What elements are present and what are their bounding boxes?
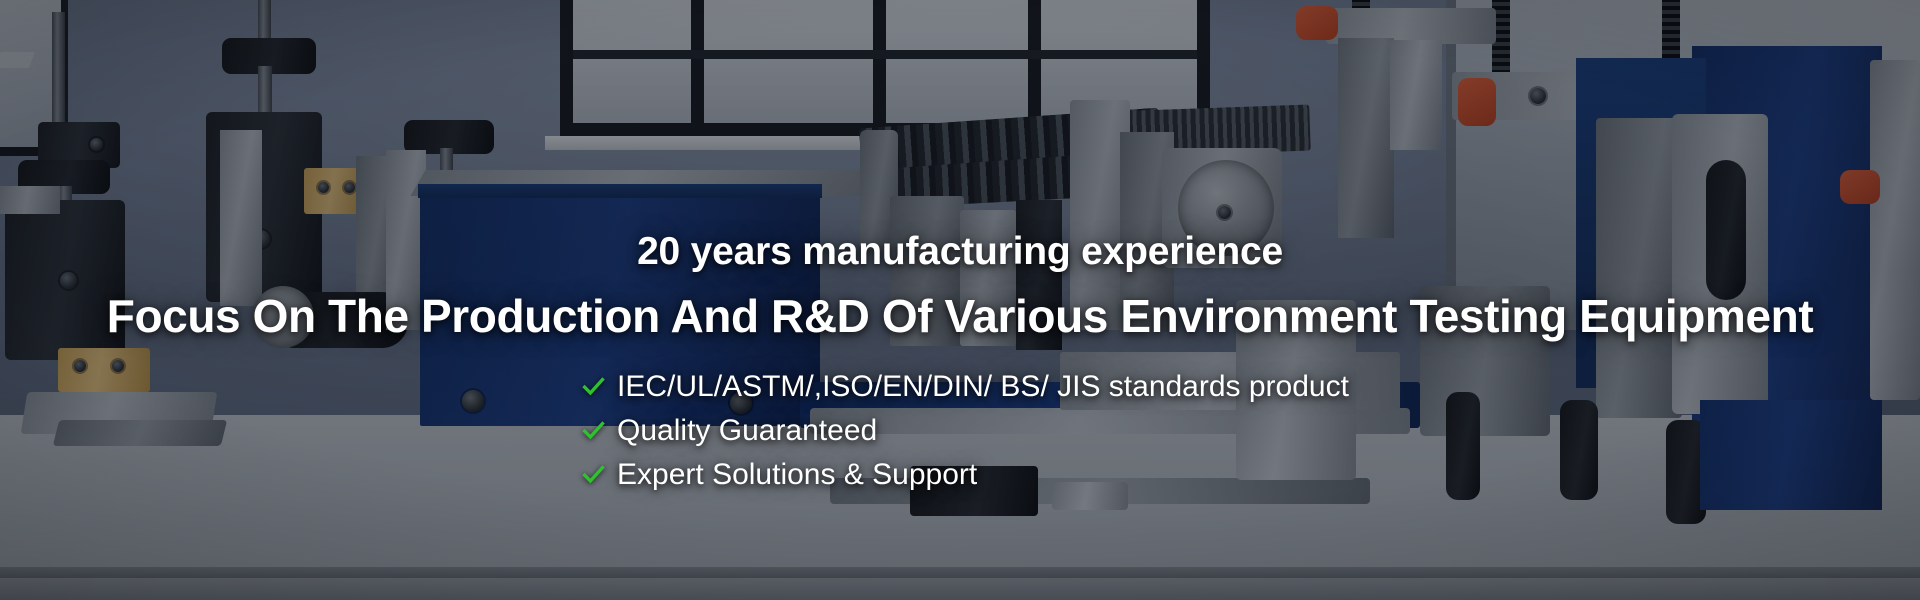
feature-item-label: Expert Solutions & Support (617, 455, 977, 494)
hero-eyebrow: 20 years manufacturing experience (637, 232, 1283, 271)
check-icon (581, 418, 606, 443)
hero-banner: 20 years manufacturing experience Focus … (0, 0, 1920, 600)
feature-item-quality: Quality Guaranteed (581, 411, 877, 450)
feature-item-standards: IEC/UL/ASTM/,ISO/EN/DIN/ BS/ JIS standar… (581, 367, 1349, 406)
check-icon (581, 374, 606, 399)
hero-feature-list: IEC/UL/ASTM/,ISO/EN/DIN/ BS/ JIS standar… (581, 367, 1349, 494)
hero-content: 20 years manufacturing experience Focus … (0, 0, 1920, 600)
hero-headline: Focus On The Production And R&D Of Vario… (107, 293, 1814, 339)
feature-item-support: Expert Solutions & Support (581, 455, 977, 494)
feature-item-label: Quality Guaranteed (617, 411, 877, 450)
check-icon (581, 462, 606, 487)
feature-item-label: IEC/UL/ASTM/,ISO/EN/DIN/ BS/ JIS standar… (617, 367, 1349, 406)
